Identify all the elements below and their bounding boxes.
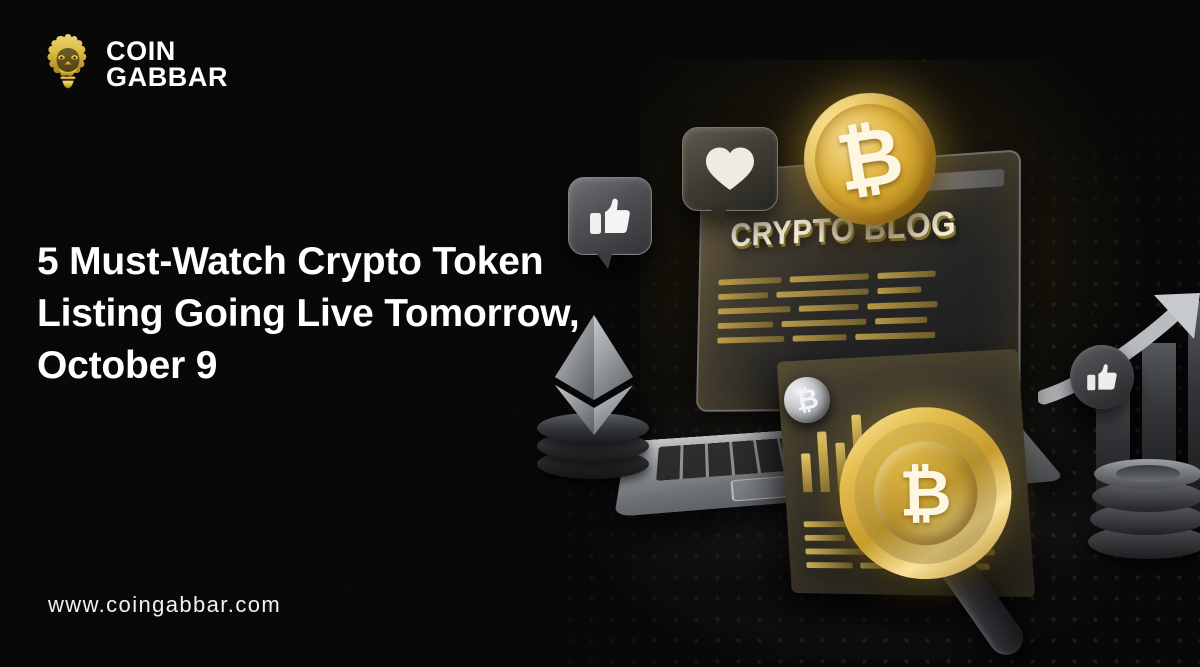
thumbs-up-badge (1070, 345, 1134, 409)
screen-text-lines (717, 268, 991, 352)
hero-illustration: CRYPTO BLOG (540, 55, 1200, 615)
brand-name-line1: COIN (106, 38, 228, 64)
bitcoin-symbol-icon: ₿ (832, 114, 909, 203)
site-url[interactable]: www.coingabbar.com (48, 592, 281, 618)
thumbs-up-icon (587, 193, 633, 239)
brand-logo[interactable]: COIN GABBAR (40, 32, 228, 96)
headline-title: 5 Must-Watch Crypto Token Listing Going … (37, 236, 597, 392)
ethereum-group (515, 301, 665, 491)
coin-stack (1088, 447, 1200, 567)
heart-bubble (682, 127, 778, 211)
magnified-bitcoin-coin: ₿ (873, 440, 979, 546)
heart-icon (704, 145, 756, 193)
magnifier-glass: ₿ (838, 405, 1032, 638)
bitcoin-symbol-icon: ₿ (899, 461, 952, 526)
thumbs-up-bubble (568, 177, 652, 255)
brand-name-line2: GABBAR (106, 64, 228, 90)
brand-wordmark: COIN GABBAR (106, 38, 228, 90)
promo-banner: COIN GABBAR 5 Must-Watch Crypto Token Li… (0, 0, 1200, 667)
bitcoin-symbol-icon: ₿ (793, 384, 820, 416)
lion-head-icon (40, 32, 96, 96)
magnifier-ring: ₿ (838, 406, 1013, 581)
thumbs-up-icon (1085, 360, 1119, 394)
ethereum-logo-icon (553, 315, 635, 435)
